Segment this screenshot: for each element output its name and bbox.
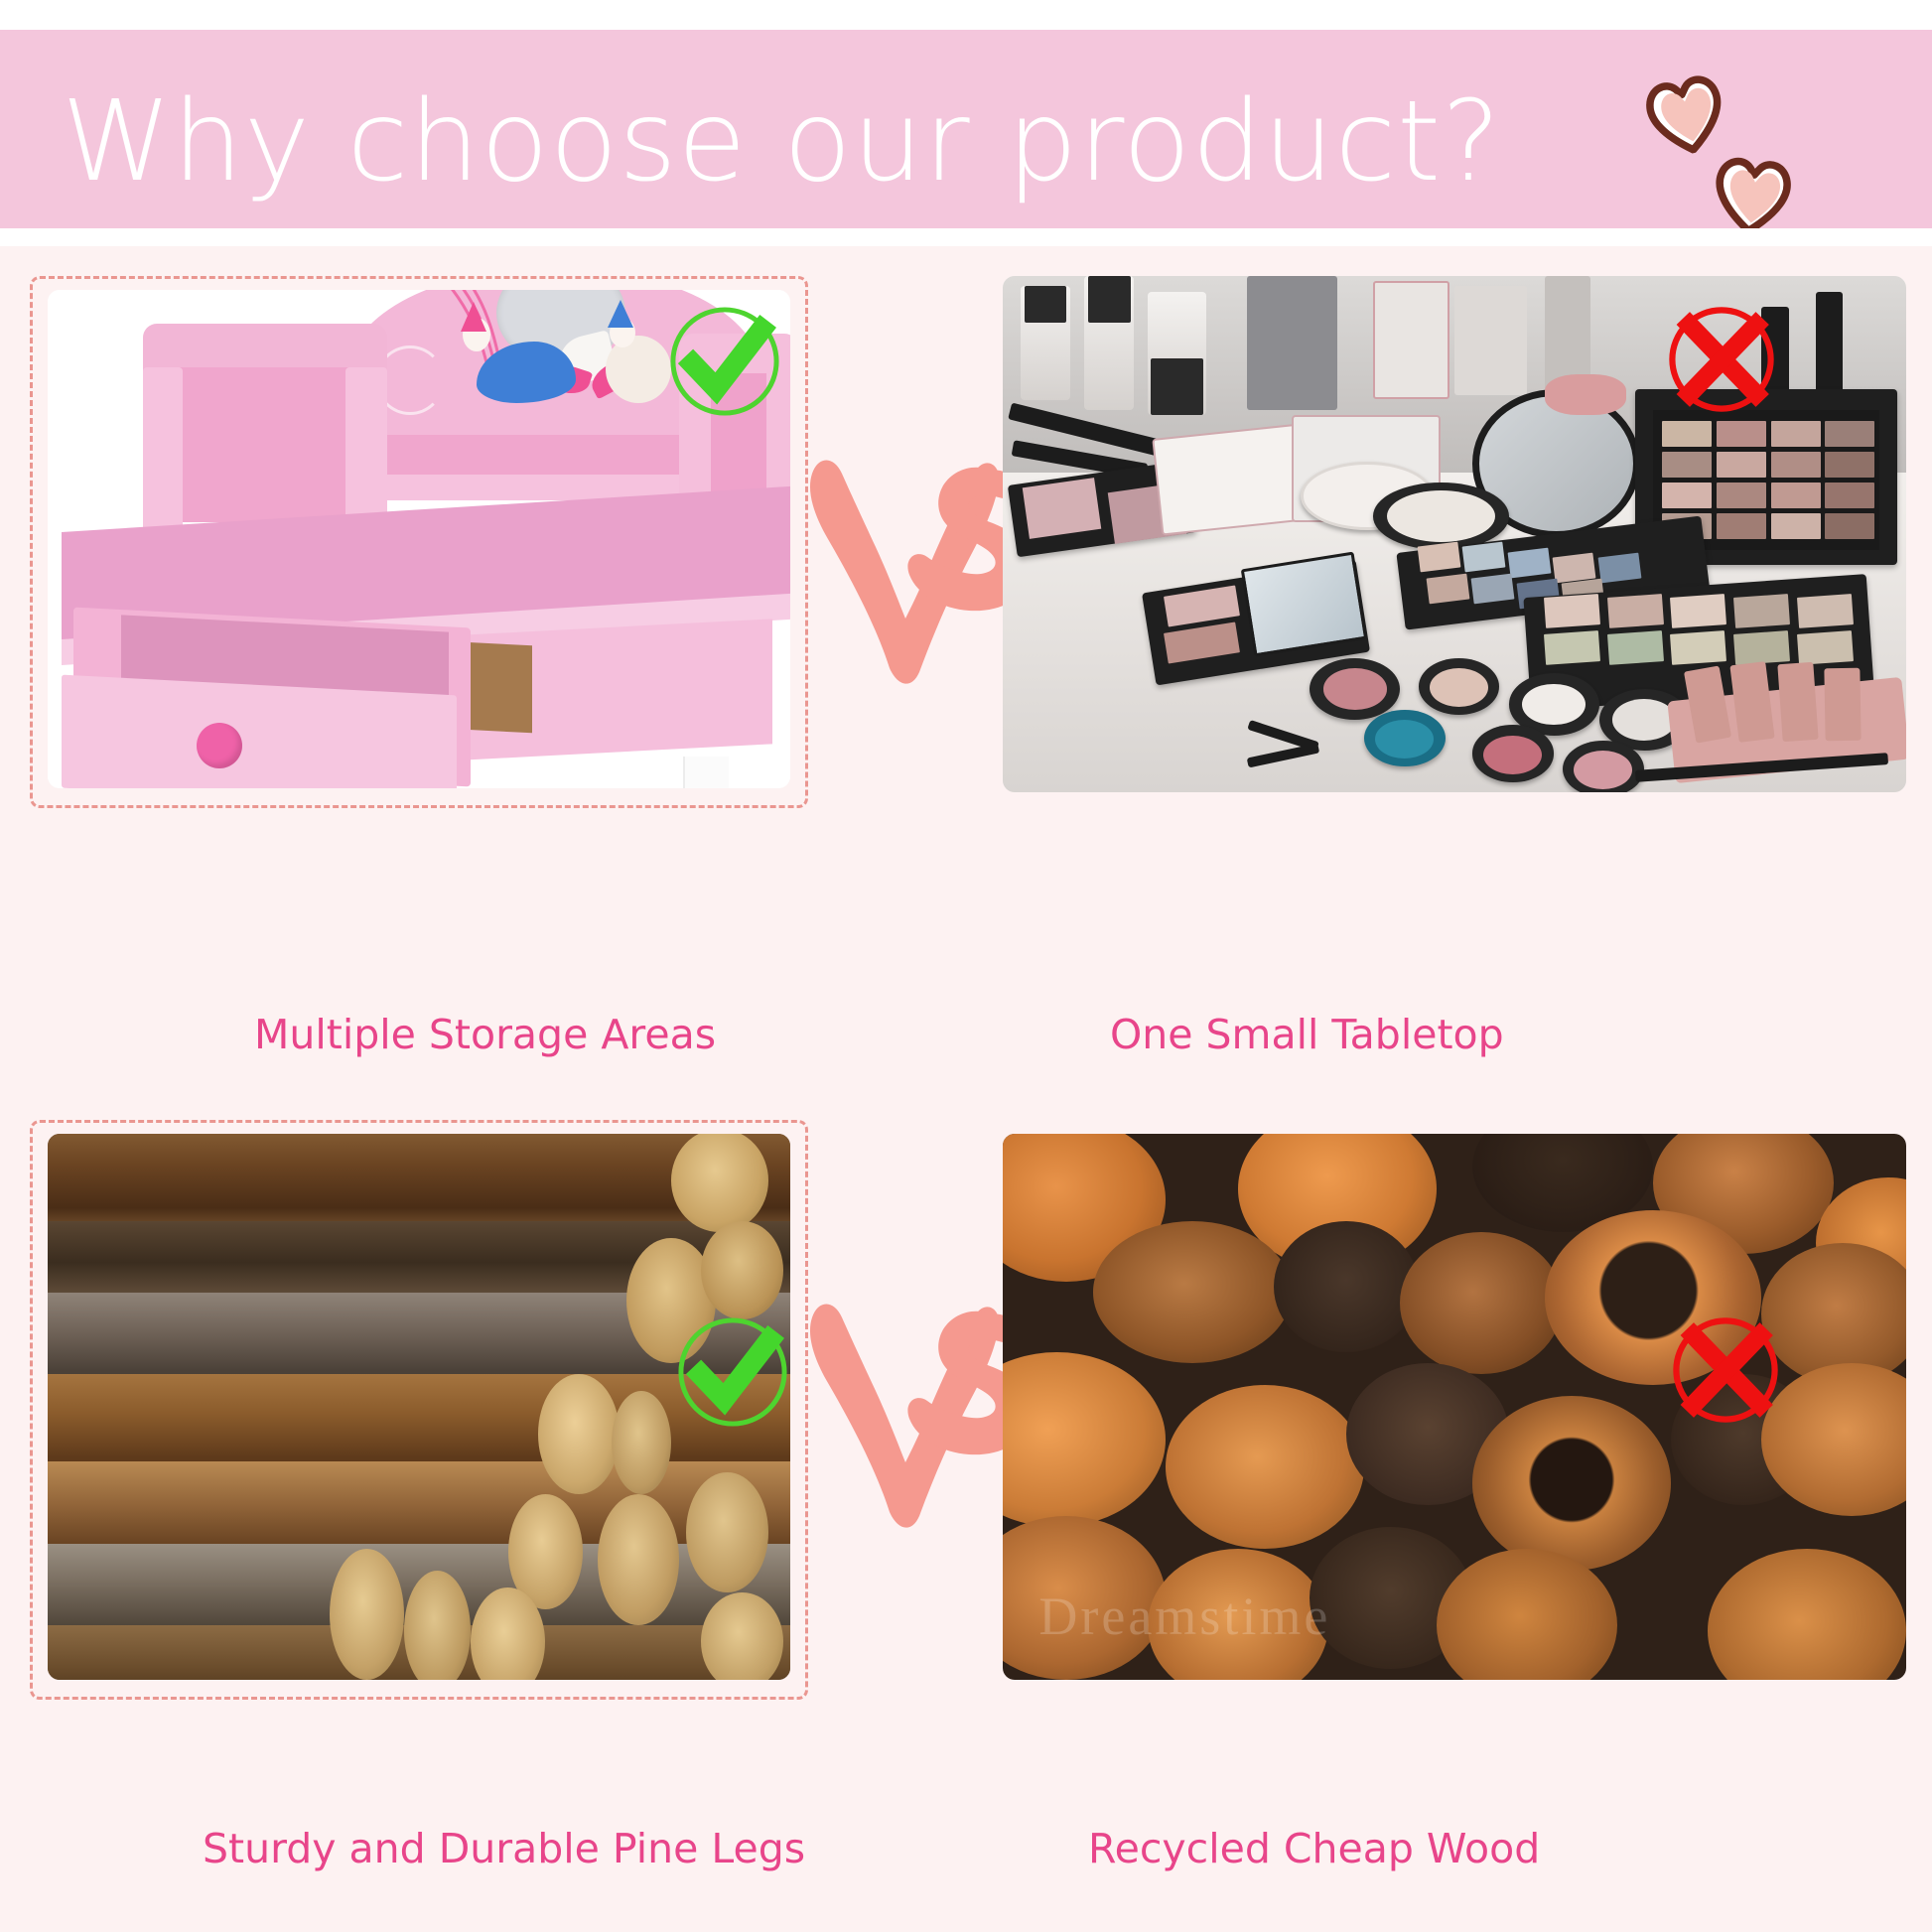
cross-badge-icon xyxy=(1664,1309,1787,1432)
pro-caption-storage: Multiple Storage Areas xyxy=(254,1011,716,1058)
check-badge-icon xyxy=(663,300,786,423)
infographic-page: Why choose our product? xyxy=(0,0,1932,1932)
con-caption-tabletop: One Small Tabletop xyxy=(1110,1011,1504,1058)
check-badge-icon xyxy=(671,1311,794,1434)
cross-badge-icon xyxy=(1660,298,1783,421)
con-caption-recycled-wood: Recycled Cheap Wood xyxy=(1088,1825,1540,1872)
heart-icon xyxy=(1636,67,1736,162)
header-banner: Why choose our product? xyxy=(0,30,1932,228)
header-divider xyxy=(0,228,1932,246)
page-title: Why choose our product? xyxy=(62,81,1501,204)
top-white-strip xyxy=(0,0,1932,30)
heart-icon xyxy=(1706,151,1799,228)
pro-caption-pine-legs: Sturdy and Durable Pine Legs xyxy=(203,1825,805,1872)
